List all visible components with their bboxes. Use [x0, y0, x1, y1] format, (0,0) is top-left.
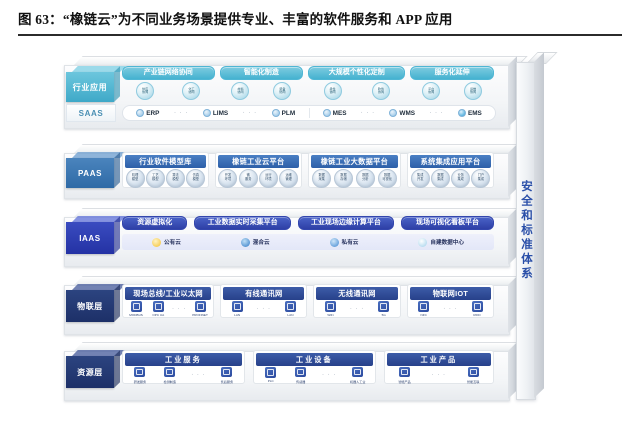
industry-chip[interactable]: 材料协同 — [231, 82, 249, 100]
saas-item-label: EMS — [468, 110, 482, 117]
paas-chip[interactable]: 数据存储 — [334, 169, 353, 188]
testing-service-icon — [164, 367, 175, 378]
saas-item-label: ERP — [146, 110, 159, 117]
iot-node[interactable]: LAN — [282, 301, 299, 318]
industry-chip[interactable]: 软件协同 — [372, 82, 390, 100]
resource-group-title: 工业设备 — [256, 353, 373, 366]
ellipsis: · · · — [322, 372, 336, 378]
iot-icon-row: NFC · · · RFID — [410, 300, 491, 318]
sidebar-item-label-iot: 物联层 — [66, 290, 114, 322]
iot-node-label: PROFINET — [192, 313, 208, 317]
chip-line-2: 开发 — [417, 178, 423, 182]
iot-group-title: 现场总线/工业以太网 — [125, 287, 211, 300]
paas-chip[interactable]: 开发环境 — [218, 169, 237, 188]
paas-chip[interactable]: 门户集成 — [471, 169, 490, 188]
lan-icon — [285, 301, 296, 312]
chip-line-2: 管理 — [285, 178, 291, 182]
industry-chip[interactable]: 供应协同 — [136, 82, 154, 100]
tab-side — [114, 284, 120, 322]
resource-icon-row: 智能产品 · · · 智能互联 — [387, 366, 491, 384]
chip-line-2: 模型 — [132, 178, 138, 182]
cloud-item-label: 自建数据中心 — [430, 238, 464, 246]
plm-icon — [272, 109, 280, 117]
fiveg-icon — [378, 301, 389, 312]
resource-group[interactable]: 工业设备 PLC 传感器 · · · 机器人工业 — [253, 350, 376, 384]
resource-node-label: PLC — [268, 379, 274, 383]
iot-group[interactable]: 有线通讯网 LAN · · · LAN — [220, 284, 307, 318]
industry-chip[interactable]: 平台协同 — [422, 82, 440, 100]
resource-group[interactable]: 工业服务 研发服务 检测制造 · · · 售后服务 — [122, 350, 245, 384]
industry-chip[interactable]: 柔性协同 — [324, 82, 342, 100]
chip-line-2: 模型 — [172, 178, 178, 182]
security-standards-banner: 安全和标准体系 — [516, 52, 546, 402]
saas-service-strip: ERP · · · LIMS · · · PLM MES · · · WMS — [122, 105, 496, 121]
iaas-platform[interactable]: 资源虚拟化 — [122, 216, 187, 230]
mes-icon — [323, 109, 331, 117]
chip-line-2: 协同 — [237, 91, 243, 94]
paas-chip[interactable]: 数据可视化 — [378, 169, 397, 188]
resource-node-label: 机器人工业 — [350, 379, 365, 384]
resource-group-title: 工业产品 — [387, 353, 491, 366]
resource-node-label: 传感器 — [296, 379, 305, 384]
industry-group[interactable]: 大规模个性化定制 柔性协同 软件协同 — [308, 66, 405, 102]
paas-group[interactable]: 橡链工业大数据平台 数据采集 数据存储 数据分析 数据可视化 — [308, 152, 401, 188]
paas-group[interactable]: 行业软件模型库 机理模型 工艺模型 算法模型 仿真模型 — [122, 152, 209, 188]
chip-line-2: 集成 — [437, 178, 443, 182]
resource-node-label: 研发服务 — [134, 379, 146, 384]
paas-chip-row: 数据采集 数据存储 数据分析 数据可视化 — [311, 168, 398, 188]
chip-line-2: 可视化 — [382, 178, 392, 182]
tab-side — [114, 66, 120, 102]
iot-icon-row: MODBUS OPC UA · · · PROFINET — [125, 300, 211, 318]
paas-groups: 行业软件模型库 机理模型 工艺模型 算法模型 仿真模型 橡链工业云平台 开发环境… — [122, 152, 494, 188]
ellipsis: · · · — [432, 372, 446, 378]
iot-node[interactable]: MODBUS — [128, 301, 145, 318]
chip-line-2: 协同 — [142, 91, 148, 94]
profinet-icon — [195, 301, 206, 312]
ellipsis: · · · — [172, 306, 186, 312]
paas-chip-row: 机理模型 工艺模型 算法模型 仿真模型 — [125, 168, 206, 188]
chip-line-2: 协同 — [428, 91, 434, 94]
iaas-platform[interactable]: 现场可视化看板平台 — [401, 216, 494, 230]
tab-side — [114, 216, 120, 254]
industry-groups: 产业链网络协同 供应协同 化工协同 智能化制造 材料协同 装备协同 — [122, 66, 494, 102]
industry-chip-row: 平台协同 运维协同 — [410, 80, 494, 102]
sidebar-item-label-resource: 资源层 — [66, 356, 114, 388]
wifi-icon — [325, 301, 336, 312]
iaas-platform[interactable]: 工业数据实时采集平台 — [194, 216, 290, 230]
paas-chip[interactable]: 运维管理 — [279, 169, 298, 188]
aftersales-service-icon — [221, 367, 232, 378]
paas-group[interactable]: 系统集成应用平台 集成开发 数据集成 业务集成 门户集成 — [407, 152, 494, 188]
paas-chip[interactable]: 业务集成 — [451, 169, 470, 188]
chip-line-2: 集成 — [478, 178, 484, 182]
sidebar-item-paas[interactable]: PAAS — [66, 152, 114, 188]
chip-line-2: 协同 — [378, 91, 384, 94]
hybrid-cloud-icon — [241, 238, 250, 247]
iot-group[interactable]: 无线通讯网 WiFi · · · 5G — [313, 284, 400, 318]
iaas-platforms: 资源虚拟化 工业数据实时采集平台 工业现场边缘计算平台 现场可视化看板平台 — [122, 216, 494, 230]
chip-line-2: 环境 — [265, 178, 271, 182]
private-cloud-icon — [330, 238, 339, 247]
iot-node[interactable]: PROFINET — [192, 301, 209, 318]
industry-chip-row: 供应协同 化工协同 — [122, 80, 215, 102]
resource-node[interactable]: 传感器 — [292, 367, 309, 384]
iaas-cloud-row: 公有云 混合云 私有云 自建数据中心 — [122, 234, 494, 250]
industry-group[interactable]: 智能化制造 材料协同 装备协同 — [220, 66, 304, 102]
lims-icon — [203, 109, 211, 117]
chip-line-2: 模型 — [152, 178, 158, 182]
lan-icon — [232, 301, 243, 312]
paas-group[interactable]: 橡链工业云平台 开发环境 微服务 运行环境 运维管理 — [215, 152, 302, 188]
resource-node[interactable]: 检测制造 — [161, 367, 178, 384]
iot-node-label: NFC — [421, 313, 427, 317]
resource-node-label: 检测制造 — [164, 379, 176, 384]
chip-line-2: 协同 — [470, 91, 476, 94]
resource-node[interactable]: 智能互联 — [465, 367, 482, 384]
iaas-platform[interactable]: 工业现场边缘计算平台 — [298, 216, 394, 230]
ellipsis: · · · — [243, 110, 257, 116]
paas-chip[interactable]: 运行环境 — [259, 169, 278, 188]
saas-item-label: MES — [333, 110, 347, 117]
paas-chip[interactable]: 数据分析 — [356, 169, 375, 188]
paas-chip[interactable]: 微服务 — [239, 169, 258, 188]
paas-group-title: 系统集成应用平台 — [410, 155, 491, 168]
resource-group[interactable]: 工业产品 智能产品 · · · 智能互联 — [384, 350, 494, 384]
wms-icon — [389, 109, 397, 117]
iot-groups: 现场总线/工业以太网 MODBUS OPC UA · · · PROFINET … — [122, 284, 494, 318]
iot-node-label: OPC UA — [152, 313, 164, 317]
resource-groups: 工业服务 研发服务 检测制造 · · · 售后服务 工业设备 — [122, 350, 494, 384]
resource-node[interactable]: 售后服务 — [218, 367, 235, 384]
resource-node[interactable]: PLC — [262, 367, 279, 384]
resource-node-label: 智能产品 — [398, 379, 410, 384]
iot-node[interactable]: NFC — [415, 301, 432, 318]
paas-chip[interactable]: 机理模型 — [126, 169, 145, 188]
iot-group-title: 无线通讯网 — [316, 287, 397, 300]
banner-label: 安全和标准体系 — [518, 180, 534, 282]
iot-node-label: WiFi — [327, 313, 333, 317]
sidebar-item-label-paas: PAAS — [66, 158, 114, 188]
chip-line-2: 采集 — [318, 178, 324, 182]
saas-item-erp[interactable]: ERP — [136, 109, 159, 117]
iot-node[interactable]: WiFi — [322, 301, 339, 318]
resource-node-label: 售后服务 — [221, 379, 233, 384]
industry-group[interactable]: 服务化延伸 平台协同 运维协同 — [410, 66, 494, 102]
plc-icon — [265, 367, 276, 378]
industry-group-title: 产业链网络协同 — [122, 66, 215, 80]
paas-chip[interactable]: 仿真模型 — [186, 169, 205, 188]
ellipsis: · · · — [257, 306, 271, 312]
paas-chip[interactable]: 数据集成 — [431, 169, 450, 188]
tab-side — [114, 152, 120, 188]
saas-item-label: LIMS — [213, 110, 228, 117]
iot-group-title: 有线通讯网 — [223, 287, 304, 300]
ellipsis: · · · — [443, 306, 457, 312]
sidebar-item-label-iaas: IAAS — [66, 222, 114, 254]
chip-line-2: 服务 — [245, 178, 251, 182]
resource-node[interactable]: 研发服务 — [131, 367, 148, 384]
iot-group[interactable]: 物联网IOT NFC · · · RFID — [407, 284, 494, 318]
chip-line-2: 协同 — [279, 91, 285, 94]
paas-group-title: 橡链工业大数据平台 — [311, 155, 398, 168]
industry-group[interactable]: 产业链网络协同 供应协同 化工协同 — [122, 66, 215, 102]
sensor-icon — [295, 367, 306, 378]
chip-line-2: 模型 — [193, 178, 199, 182]
ellipsis: · · · — [350, 306, 364, 312]
cloud-item-hybrid[interactable]: 混合云 — [241, 238, 270, 247]
title-divider — [18, 34, 622, 36]
ellipsis: · · · — [429, 110, 443, 116]
iot-node[interactable]: 5G — [375, 301, 392, 318]
paas-chip[interactable]: 工艺模型 — [146, 169, 165, 188]
robot-icon — [352, 367, 363, 378]
iot-node-label: RFID — [473, 313, 480, 317]
resource-icon-row: PLC 传感器 · · · 机器人工业 — [256, 366, 373, 384]
saas-item-wms[interactable]: WMS — [389, 109, 415, 117]
cloud-item-datacenter[interactable]: 自建数据中心 — [418, 238, 464, 247]
iot-group[interactable]: 现场总线/工业以太网 MODBUS OPC UA · · · PROFINET — [122, 284, 214, 318]
ellipsis: · · · — [174, 110, 188, 116]
cloud-item-public[interactable]: 公有云 — [152, 238, 181, 247]
sidebar-item-label-saas: SAAS — [66, 104, 116, 122]
opcua-icon — [153, 301, 164, 312]
iot-icon-row: LAN · · · LAN — [223, 300, 304, 318]
iot-node[interactable]: OPC UA — [150, 301, 167, 318]
public-cloud-icon — [152, 238, 161, 247]
saas-item-label: PLM — [282, 110, 296, 117]
iot-node[interactable]: RFID — [469, 301, 486, 318]
nfc-icon — [418, 301, 429, 312]
cloud-item-private[interactable]: 私有云 — [330, 238, 359, 247]
iot-node-label: LAN — [287, 313, 293, 317]
page-title: 图 63：“橡链云”为不同业务场景提供专业、丰富的软件服务和 APP 应用 — [18, 8, 622, 28]
cloud-item-label: 私有云 — [342, 238, 359, 246]
banner-face: 安全和标准体系 — [516, 62, 536, 400]
industry-group-title: 大规模个性化定制 — [308, 66, 405, 80]
rd-service-icon — [134, 367, 145, 378]
resource-node-label: 智能互联 — [467, 379, 479, 384]
industry-chip[interactable]: 化工协同 — [182, 82, 200, 100]
rfid-icon — [472, 301, 483, 312]
iot-node-label: LAN — [234, 313, 240, 317]
chip-line-2: 存储 — [340, 178, 346, 182]
paas-group-title: 行业软件模型库 — [125, 155, 206, 168]
iot-node-label: 5G — [382, 313, 386, 317]
cloud-item-label: 混合云 — [253, 238, 270, 246]
ellipsis: · · · — [191, 372, 205, 378]
sidebar-item-saas[interactable]: SAAS — [66, 104, 114, 120]
paas-chip[interactable]: 算法模型 — [166, 169, 185, 188]
chip-line-2: 环境 — [225, 178, 231, 182]
chip-line-2: 分析 — [362, 178, 368, 182]
iot-group-title: 物联网IOT — [410, 287, 491, 300]
datacenter-icon — [418, 238, 427, 247]
resource-node[interactable]: 智能产品 — [396, 367, 413, 384]
smart-product-icon — [399, 367, 410, 378]
paas-chip[interactable]: 数据采集 — [312, 169, 331, 188]
industry-chip[interactable]: 运维协同 — [464, 82, 482, 100]
iot-node-label: MODBUS — [129, 313, 143, 317]
industry-chip[interactable]: 装备协同 — [273, 82, 291, 100]
saas-item-plm[interactable]: PLM — [272, 109, 296, 117]
sidebar-item-label-industry: 行业应用 — [66, 72, 114, 102]
saas-item-lims[interactable]: LIMS — [203, 109, 228, 117]
paas-chip[interactable]: 集成开发 — [411, 169, 430, 188]
saas-item-mes[interactable]: MES — [323, 109, 347, 117]
smart-connect-icon — [468, 367, 479, 378]
saas-item-ems[interactable]: EMS — [458, 109, 482, 117]
paas-group-title: 橡链工业云平台 — [218, 155, 299, 168]
paas-chip-row: 集成开发 数据集成 业务集成 门户集成 — [410, 168, 491, 188]
industry-chip-row: 材料协同 装备协同 — [220, 80, 304, 102]
iot-icon-row: WiFi · · · 5G — [316, 300, 397, 318]
sidebar-item-industry[interactable]: 行业应用 — [66, 66, 114, 102]
sidebar-item-iot[interactable]: 物联层 — [66, 284, 114, 322]
resource-icon-row: 研发服务 检测制造 · · · 售后服务 — [125, 366, 242, 384]
industry-chip-row: 柔性协同 软件协同 — [308, 80, 405, 102]
modbus-icon — [131, 301, 142, 312]
ellipsis: · · · — [361, 110, 375, 116]
chip-line-2: 集成 — [457, 178, 463, 182]
chip-line-2: 协同 — [329, 91, 335, 94]
industry-group-title: 服务化延伸 — [410, 66, 494, 80]
tab-side — [114, 350, 120, 388]
paas-chip-row: 开发环境 微服务 运行环境 运维管理 — [218, 168, 299, 188]
sidebar-item-iaas[interactable]: IAAS — [66, 216, 114, 254]
erp-icon — [136, 109, 144, 117]
cloud-item-label: 公有云 — [164, 238, 181, 246]
industry-group-title: 智能化制造 — [220, 66, 304, 80]
saas-item-label: WMS — [399, 110, 415, 117]
resource-group-title: 工业服务 — [125, 353, 242, 366]
sidebar-item-resource[interactable]: 资源层 — [66, 350, 114, 388]
figure-title-bar: 图 63：“橡链云”为不同业务场景提供专业、丰富的软件服务和 APP 应用 — [18, 8, 622, 36]
architecture-diagram: 行业应用 SAAS 产业链网络协同 供应协同 化工协同 智能化制造 材料协同 — [0, 48, 640, 430]
ems-icon — [458, 109, 466, 117]
chip-line-2: 协同 — [188, 91, 194, 94]
resource-node[interactable]: 机器人工业 — [349, 367, 366, 384]
iot-node[interactable]: LAN — [229, 301, 246, 318]
banner-side — [534, 52, 544, 398]
